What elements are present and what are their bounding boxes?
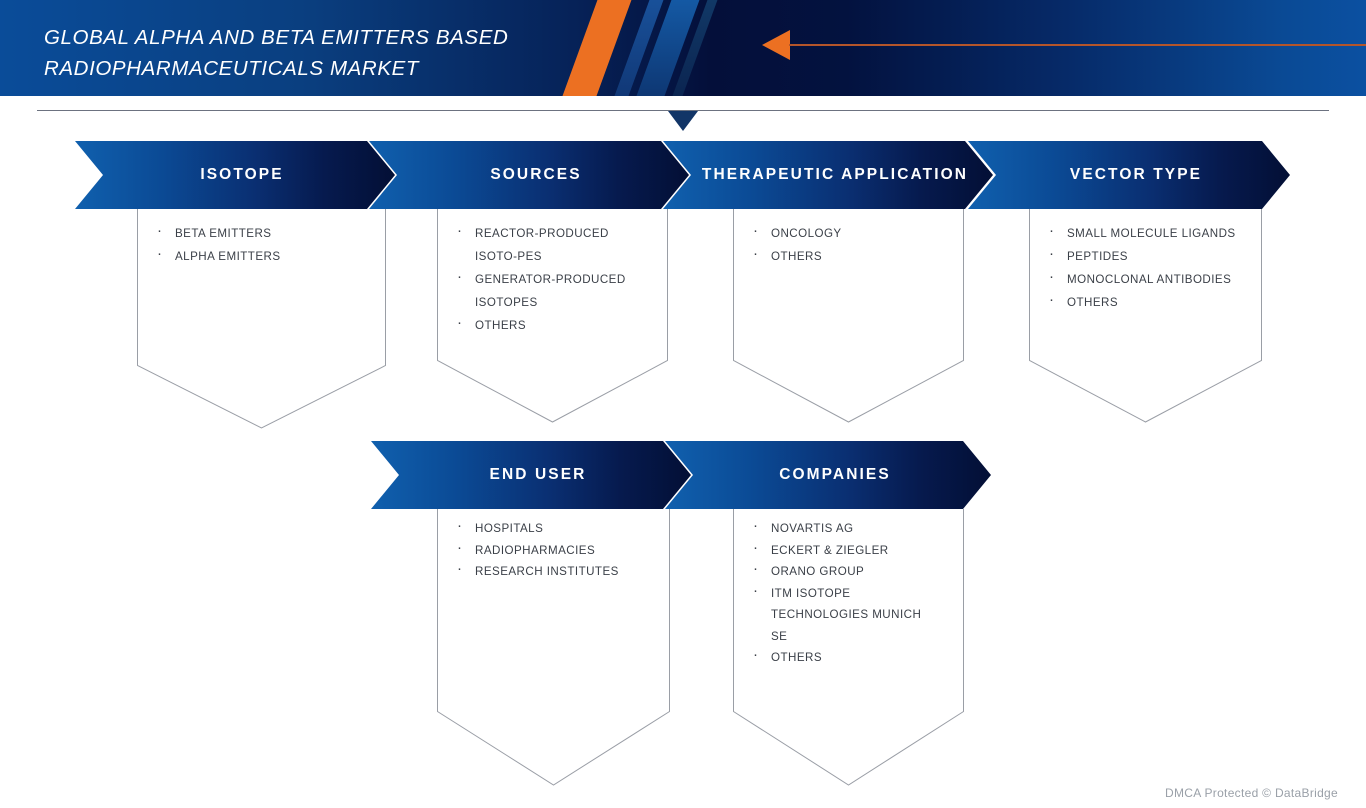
list-item: ONCOLOGY	[749, 222, 964, 245]
segment-card-therapeutic-application: ONCOLOGY OTHERS	[733, 209, 964, 423]
list-item: ECKERT & ZIEGLER	[749, 540, 939, 562]
list-item: RADIOPHARMACIES	[453, 540, 670, 562]
list-item: ORANO GROUP	[749, 561, 939, 583]
arrow-line	[789, 44, 1366, 46]
segment-title: THERAPEUTIC APPLICATION	[688, 166, 968, 184]
list-item: OTHERS	[749, 647, 939, 669]
list-item: OTHERS	[749, 245, 964, 268]
arrow-left-icon	[762, 30, 790, 60]
segment-item-list: SMALL MOLECULE LIGANDS PEPTIDES MONOCLON…	[1029, 209, 1262, 314]
segment-item-list: NOVARTIS AG ECKERT & ZIEGLER ORANO GROUP…	[733, 509, 939, 669]
page-header: GLOBAL ALPHA AND BETA EMITTERS BASED RAD…	[0, 0, 1366, 96]
segment-banner-vector-type[interactable]: VECTOR TYPE	[968, 141, 1290, 209]
segment-card-vector-type: SMALL MOLECULE LIGANDS PEPTIDES MONOCLON…	[1029, 209, 1262, 423]
segment-card-end-user: HOSPITALS RADIOPHARMACIES RESEARCH INSTI…	[437, 509, 670, 786]
segment-title: ISOTOPE	[186, 166, 283, 184]
segment-banner-end-user[interactable]: END USER	[371, 441, 691, 509]
segment-title: SOURCES	[476, 166, 581, 184]
list-item: GENERATOR-PRODUCED ISOTOPES	[453, 268, 633, 314]
segment-banner-therapeutic-application[interactable]: THERAPEUTIC APPLICATION	[663, 141, 993, 209]
footer-credit: DMCA Protected © DataBridge	[1165, 786, 1338, 800]
segment-item-list: HOSPITALS RADIOPHARMACIES RESEARCH INSTI…	[437, 509, 670, 583]
caret-down-icon	[668, 111, 698, 131]
list-item: ITM ISOTOPE TECHNOLOGIES MUNICH SE	[749, 583, 939, 648]
segment-title: VECTOR TYPE	[1056, 166, 1202, 184]
segment-item-list: REACTOR-PRODUCED ISOTO-PES GENERATOR-PRO…	[437, 209, 633, 337]
list-item: SMALL MOLECULE LIGANDS	[1045, 222, 1262, 245]
segment-banner-companies[interactable]: COMPANIES	[665, 441, 991, 509]
list-item: REACTOR-PRODUCED ISOTO-PES	[453, 222, 633, 268]
list-item: BETA EMITTERS	[153, 222, 386, 245]
segment-card-sources: REACTOR-PRODUCED ISOTO-PES GENERATOR-PRO…	[437, 209, 668, 423]
segment-title: COMPANIES	[765, 466, 891, 484]
list-item: PEPTIDES	[1045, 245, 1262, 268]
segment-card-isotope: BETA EMITTERS ALPHA EMITTERS	[137, 209, 386, 429]
header-arrow	[762, 30, 1366, 60]
list-item: ALPHA EMITTERS	[153, 245, 386, 268]
page-title: GLOBAL ALPHA AND BETA EMITTERS BASED RAD…	[44, 22, 604, 84]
segment-card-companies: NOVARTIS AG ECKERT & ZIEGLER ORANO GROUP…	[733, 509, 964, 786]
list-item: HOSPITALS	[453, 518, 670, 540]
segment-item-list: BETA EMITTERS ALPHA EMITTERS	[137, 209, 386, 268]
list-item: OTHERS	[453, 314, 633, 337]
list-item: RESEARCH INSTITUTES	[453, 561, 670, 583]
segment-item-list: ONCOLOGY OTHERS	[733, 209, 964, 268]
segment-banner-isotope[interactable]: ISOTOPE	[75, 141, 395, 209]
list-item: OTHERS	[1045, 291, 1262, 314]
segment-title: END USER	[476, 466, 587, 484]
segment-banner-sources[interactable]: SOURCES	[369, 141, 689, 209]
infographic-page: GLOBAL ALPHA AND BETA EMITTERS BASED RAD…	[0, 0, 1366, 808]
list-item: NOVARTIS AG	[749, 518, 939, 540]
list-item: MONOCLONAL ANTIBODIES	[1045, 268, 1262, 291]
